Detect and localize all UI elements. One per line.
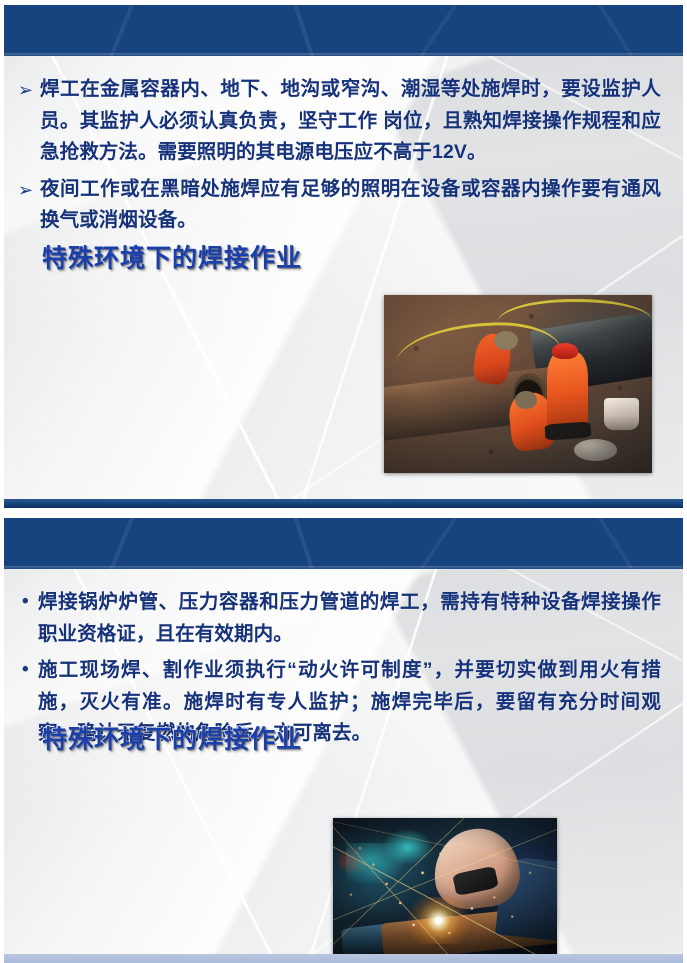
- photo-vignette: [333, 818, 557, 955]
- slide-1-bullet-2-text: 夜间工作或在黑暗处施焊应有足够的照明在设备或容器内操作要有通风换气或消烟设备。: [40, 174, 661, 237]
- slide-1-footer-bar: [4, 499, 683, 508]
- welder-sparks-photo: [333, 818, 557, 955]
- slide-1-title: 特殊环境下的焊接作业: [42, 238, 302, 274]
- dot-bullet-icon: •: [18, 655, 38, 686]
- slide-2-bullet-1-text: 焊接锅炉炉管、压力容器和压力管道的焊工，需持有特种设备焊接操作职业资格证，且在有…: [38, 587, 661, 650]
- banner-sheen-decoration: [4, 5, 683, 56]
- slide-2-title-bar: [4, 518, 683, 569]
- pipeline-welding-photo: [384, 295, 652, 473]
- banner-bevel-decoration: [4, 53, 683, 56]
- slide-2-bullet-1: • 焊接锅炉炉管、压力容器和压力管道的焊工，需持有特种设备焊接操作职业资格证，且…: [18, 587, 661, 650]
- slide-1-body: ➢ 焊工在金属容器内、地下、地沟或窄沟、潮湿等处施焊时，要设监护人员。其监护人必…: [4, 56, 683, 237]
- slide-1-bullet-1-text: 焊工在金属容器内、地下、地沟或窄沟、潮湿等处施焊时，要设监护人员。其监护人必须认…: [40, 74, 661, 169]
- slide-2-title: 特殊环境下的焊接作业: [42, 719, 302, 755]
- photo-vignette: [384, 295, 652, 473]
- slide-1-bullet-2: ➢ 夜间工作或在黑暗处施焊应有足够的照明在设备或容器内操作要有通风换气或消烟设备…: [18, 174, 661, 237]
- slide-deck: 特殊环境下的焊接作业 ➢ 焊工在金属容器内、地下、地沟或窄沟、潮湿等处施焊时，要…: [0, 0, 687, 963]
- arrow-bullet-icon: ➢: [18, 74, 40, 105]
- banner-bevel-decoration: [4, 566, 683, 569]
- banner-sheen-decoration: [4, 518, 683, 569]
- slide-1-bullet-1: ➢ 焊工在金属容器内、地下、地沟或窄沟、潮湿等处施焊时，要设监护人员。其监护人必…: [18, 74, 661, 169]
- dot-bullet-icon: •: [18, 587, 38, 618]
- slide-1-title-bar: [4, 5, 683, 56]
- arrow-bullet-icon: ➢: [18, 174, 40, 205]
- page-bottom-bar: [4, 954, 683, 963]
